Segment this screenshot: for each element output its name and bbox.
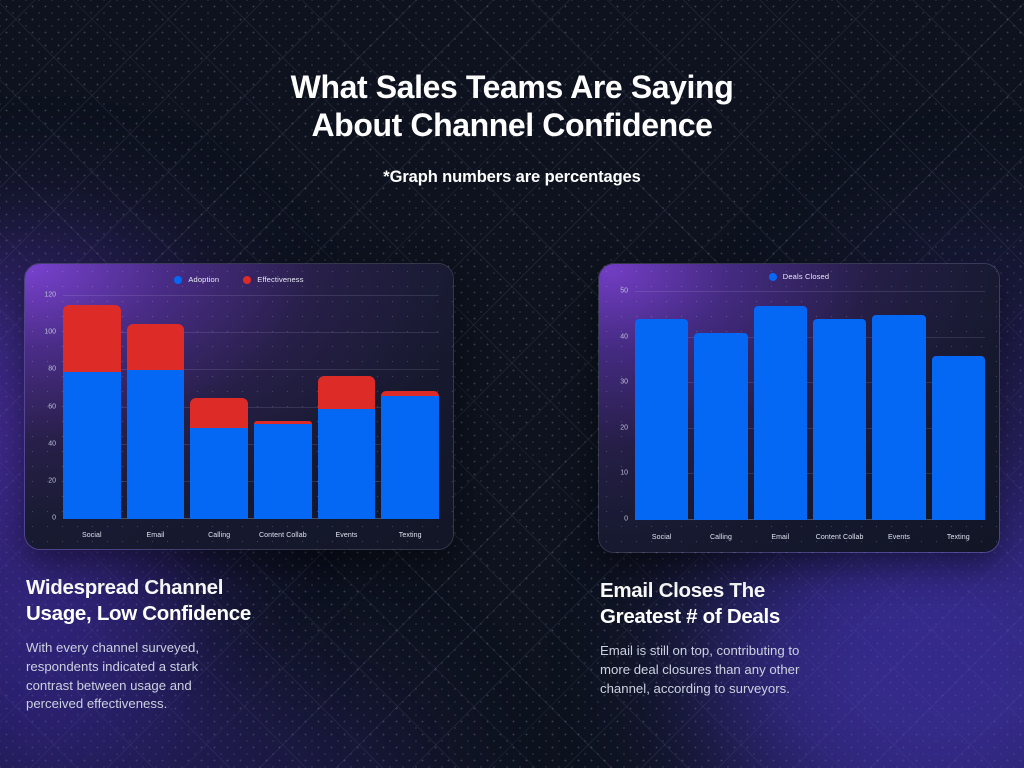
y-axis-tick-label: 80	[48, 366, 56, 373]
page-title-line-2: About Channel Confidence	[0, 106, 1024, 144]
x-axis-label: Social	[63, 532, 121, 539]
plot-area-right: 01020304050	[635, 292, 985, 520]
left-caption: Widespread Channel Usage, Low Confidence…	[24, 575, 454, 714]
y-axis-tick-label: 60	[48, 403, 56, 410]
x-axis-label: Email	[127, 532, 185, 539]
bar-segment-deals-closed[interactable]	[754, 306, 807, 520]
bar-segment-deals-closed[interactable]	[872, 315, 925, 520]
y-axis-tick-label: 0	[624, 516, 628, 523]
left-caption-title: Widespread Channel Usage, Low Confidence	[26, 575, 454, 626]
bar-column[interactable]	[318, 296, 376, 519]
bar-segment-effectiveness[interactable]	[190, 398, 248, 428]
bar-column[interactable]	[813, 292, 866, 520]
bar-segment-effectiveness[interactable]	[127, 324, 185, 370]
legend-label: Effectiveness	[257, 275, 303, 284]
y-axis-tick-label: 20	[48, 477, 56, 484]
y-axis-tick-label: 40	[620, 333, 628, 340]
legend-label: Adoption	[188, 275, 219, 284]
x-axis-label: Social	[635, 534, 688, 541]
adoption-effectiveness-chart-card: AdoptionEffectiveness 020406080100120 So…	[24, 263, 454, 550]
bar-segment-adoption[interactable]	[127, 370, 185, 519]
x-axis-labels-left: SocialEmailCallingContent CollabEventsTe…	[63, 532, 439, 539]
bar-column[interactable]	[127, 296, 185, 519]
bar-segment-deals-closed[interactable]	[813, 319, 866, 520]
plot-area-left: 020406080100120	[63, 296, 439, 519]
right-caption-title: Email Closes The Greatest # of Deals	[600, 578, 1000, 629]
bar-column[interactable]	[190, 296, 248, 519]
bar-group-right	[635, 292, 985, 520]
bar-segment-deals-closed[interactable]	[694, 333, 747, 520]
legend-swatch-icon	[174, 276, 182, 284]
left-caption-body: With every channel surveyed, respondents…	[26, 639, 276, 714]
left-panel: AdoptionEffectiveness 020406080100120 So…	[24, 263, 454, 714]
y-axis-tick-label: 50	[620, 288, 628, 295]
right-caption-body: Email is still on top, contributing to m…	[600, 642, 840, 698]
bar-segment-deals-closed[interactable]	[932, 356, 985, 520]
deals-closed-chart-card: Deals Closed 01020304050 SocialCallingEm…	[598, 263, 1000, 553]
bar-column[interactable]	[635, 292, 688, 520]
y-axis-tick-label: 100	[44, 329, 56, 336]
slide-canvas: What Sales Teams Are Saying About Channe…	[0, 0, 1024, 768]
bar-column[interactable]	[932, 292, 985, 520]
bar-column[interactable]	[381, 296, 439, 519]
bar-segment-effectiveness[interactable]	[63, 305, 121, 372]
x-axis-labels-right: SocialCallingEmailContent CollabEventsTe…	[635, 534, 985, 541]
y-axis-tick-label: 20	[620, 424, 628, 431]
page-title-line-1: What Sales Teams Are Saying	[0, 68, 1024, 106]
chart-legend-left: AdoptionEffectiveness	[25, 275, 453, 284]
bar-segment-adoption[interactable]	[318, 409, 376, 519]
bar-column[interactable]	[754, 292, 807, 520]
bar-group-left	[63, 296, 439, 519]
bar-segment-adoption[interactable]	[381, 396, 439, 519]
x-axis-label: Content Collab	[813, 534, 866, 541]
y-axis-tick-label: 10	[620, 470, 628, 477]
bar-column[interactable]	[872, 292, 925, 520]
legend-swatch-icon	[243, 276, 251, 284]
x-axis-label: Calling	[694, 534, 747, 541]
legend-swatch-icon	[769, 273, 777, 281]
bar-segment-adoption[interactable]	[254, 424, 312, 519]
chart-legend-right: Deals Closed	[599, 272, 999, 281]
y-axis-tick-label: 120	[44, 292, 56, 299]
legend-item-adoption[interactable]: Adoption	[174, 275, 219, 284]
bar-segment-adoption[interactable]	[190, 428, 248, 519]
legend-item-deals-closed[interactable]: Deals Closed	[769, 272, 829, 281]
x-axis-label: Events	[318, 532, 376, 539]
legend-label: Deals Closed	[783, 272, 829, 281]
y-axis-tick-label: 40	[48, 440, 56, 447]
x-axis-label: Events	[872, 534, 925, 541]
bar-column[interactable]	[63, 296, 121, 519]
right-caption: Email Closes The Greatest # of Deals Ema…	[598, 578, 1000, 698]
bar-segment-effectiveness[interactable]	[318, 376, 376, 409]
page-title: What Sales Teams Are Saying About Channe…	[0, 68, 1024, 145]
x-axis-label: Texting	[381, 532, 439, 539]
bar-segment-deals-closed[interactable]	[635, 319, 688, 520]
x-axis-label: Calling	[190, 532, 248, 539]
y-axis-tick-label: 0	[52, 515, 56, 522]
x-axis-label: Texting	[932, 534, 985, 541]
slide-header: What Sales Teams Are Saying About Channe…	[0, 0, 1024, 187]
charts-row: AdoptionEffectiveness 020406080100120 So…	[0, 263, 1024, 714]
legend-item-effectiveness[interactable]: Effectiveness	[243, 275, 303, 284]
bar-segment-adoption[interactable]	[63, 372, 121, 519]
bar-column[interactable]	[694, 292, 747, 520]
y-axis-tick-label: 30	[620, 379, 628, 386]
x-axis-label: Email	[754, 534, 807, 541]
x-axis-label: Content Collab	[254, 532, 312, 539]
bar-column[interactable]	[254, 296, 312, 519]
right-panel: Deals Closed 01020304050 SocialCallingEm…	[598, 263, 1000, 714]
page-subtitle: *Graph numbers are percentages	[0, 168, 1024, 187]
